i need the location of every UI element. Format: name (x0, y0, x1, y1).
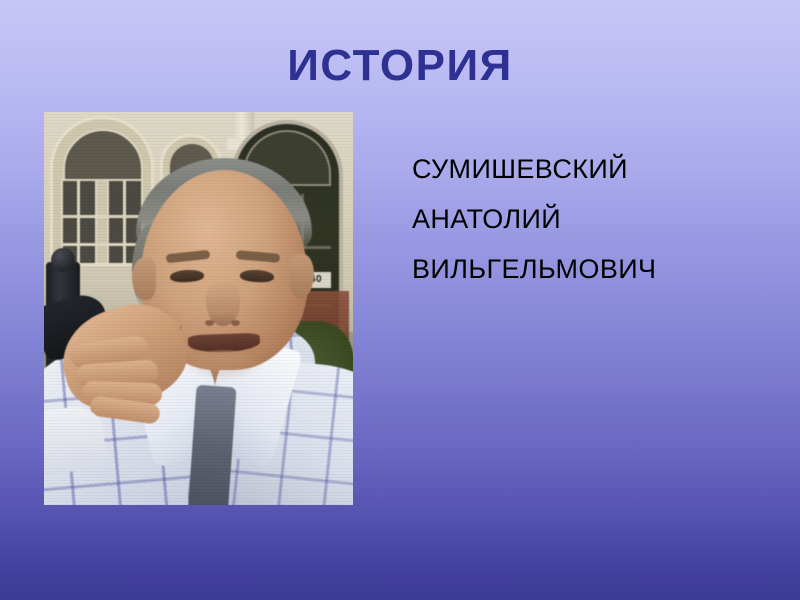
nostril-right (231, 320, 240, 326)
name-line-firstname: АНАТОЛИЙ (412, 194, 772, 244)
ear-left (132, 258, 156, 300)
name-line-surname: СУМИШЕВСКИЙ (412, 144, 772, 194)
portrait-photo: 60 (44, 112, 353, 505)
shirt-placket (187, 385, 236, 505)
chin (184, 350, 264, 380)
nostril-left (205, 320, 214, 326)
photo-content: 60 (44, 112, 353, 505)
ear-right (290, 254, 314, 298)
name-line-patronymic: ВИЛЬГЕЛЬМОВИЧ (412, 244, 772, 294)
person-name-block: СУМИШЕВСКИЙ АНАТОЛИЙ ВИЛЬГЕЛЬМОВИЧ (412, 144, 772, 294)
man-figure (44, 112, 353, 505)
presentation-slide: ИСТОРИЯ (0, 0, 800, 600)
page-title: ИСТОРИЯ (0, 44, 800, 88)
